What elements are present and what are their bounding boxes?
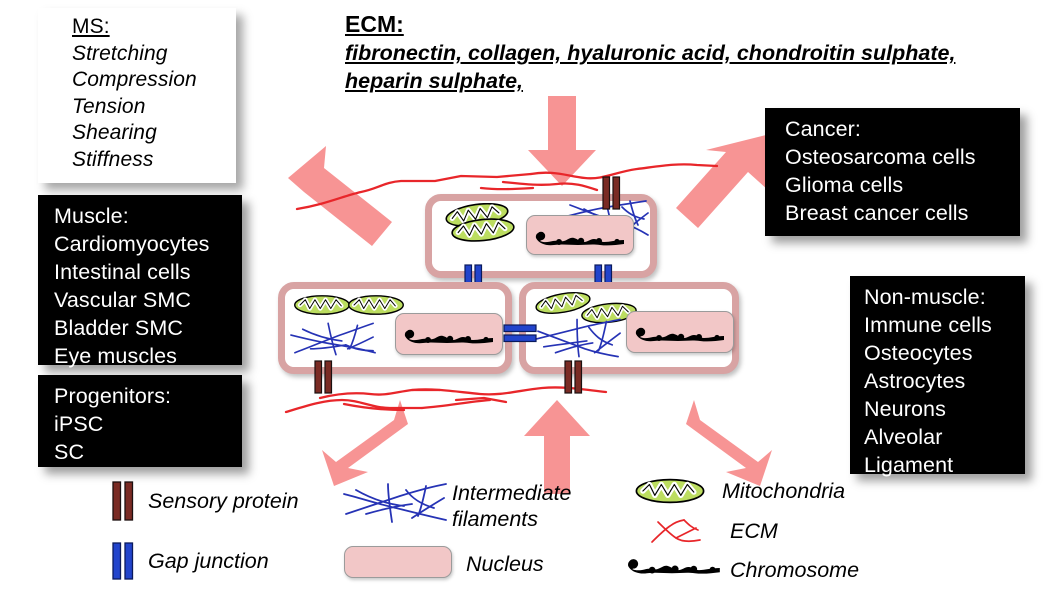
sensory-protein-icon bbox=[312, 360, 334, 394]
legend-gap-junction-label: Gap junction bbox=[148, 548, 269, 574]
muscle-box-header: Muscle: bbox=[54, 202, 230, 230]
nonmuscle-box-item: Neurons bbox=[864, 395, 1013, 423]
progenitors-box-header: Progenitors: bbox=[54, 382, 230, 410]
legend-nucleus-label: Nucleus bbox=[466, 551, 544, 577]
progenitors-box-item: iPSC bbox=[54, 410, 230, 438]
cancer-box-item: Osteosarcoma cells bbox=[785, 143, 1008, 171]
chromosome-icon bbox=[632, 325, 728, 345]
legend-chromosome-label: Chromosome bbox=[730, 557, 859, 583]
diagram-canvas: MS: Stretching Compression Tension Shear… bbox=[0, 0, 1048, 597]
legend-mitochondria-label: Mitochondria bbox=[722, 478, 845, 504]
ms-box-item: Stretching bbox=[72, 41, 226, 68]
intermediate-filaments-icon bbox=[289, 319, 379, 361]
ecm-header-line1: fibronectin, collagen, hyaluronic acid, … bbox=[345, 39, 1005, 67]
ms-box-item: Shearing bbox=[72, 120, 226, 147]
legend-nucleus-icon bbox=[344, 546, 452, 578]
ecm-header: ECM: fibronectin, collagen, hyaluronic a… bbox=[345, 10, 1005, 95]
legend-sensory-protein-icon bbox=[110, 481, 136, 521]
chromosome-icon bbox=[401, 327, 497, 347]
progenitors-box-item: SC bbox=[54, 438, 230, 466]
muscle-box-item: Cardiomyocytes bbox=[54, 230, 230, 258]
cell-top bbox=[425, 194, 657, 278]
nonmuscle-box-header: Non-muscle: bbox=[864, 283, 1013, 311]
nonmuscle-box-item: Ligament bbox=[864, 451, 1013, 479]
ms-box-item: Tension bbox=[72, 94, 226, 121]
mitochondria-icon bbox=[450, 218, 516, 242]
legend-intermediate-filaments-label: Intermediate filaments bbox=[452, 480, 572, 532]
cell-bottom-right bbox=[519, 282, 739, 374]
legend-mitochondria-icon bbox=[634, 478, 706, 504]
cancer-box-item: Breast cancer cells bbox=[785, 199, 1008, 227]
nonmuscle-box-item: Alveolar bbox=[864, 423, 1013, 451]
ecm-header-line2: heparin sulphate, bbox=[345, 67, 1005, 95]
legend-ecm-icon bbox=[648, 518, 708, 546]
muscle-box-item: Eye muscles bbox=[54, 342, 230, 370]
ms-box: MS: Stretching Compression Tension Shear… bbox=[38, 8, 236, 183]
mitochondria-icon bbox=[347, 293, 405, 317]
intermediate-filaments-icon bbox=[534, 317, 624, 363]
ecm-header-title: ECM: bbox=[345, 10, 1005, 39]
nonmuscle-box-item: Astrocytes bbox=[864, 367, 1013, 395]
nonmuscle-box: Non-muscle: Immune cells Osteocytes Astr… bbox=[850, 276, 1025, 474]
mitochondria-icon bbox=[293, 293, 351, 317]
cancer-box-header: Cancer: bbox=[785, 115, 1008, 143]
legend-sensory-protein-label: Sensory protein bbox=[148, 488, 299, 514]
chromosome-icon bbox=[532, 229, 628, 249]
ms-box-item: Stiffness bbox=[72, 147, 226, 174]
cancer-box-item: Glioma cells bbox=[785, 171, 1008, 199]
progenitors-box: Progenitors: iPSC SC bbox=[38, 375, 242, 467]
nonmuscle-box-item: Osteocytes bbox=[864, 339, 1013, 367]
gap-junction-icon bbox=[503, 322, 537, 344]
sensory-protein-icon bbox=[600, 176, 622, 210]
sensory-protein-icon bbox=[562, 360, 584, 394]
muscle-box-item: Vascular SMC bbox=[54, 286, 230, 314]
legend-gap-junction-icon bbox=[110, 542, 136, 580]
muscle-box: Muscle: Cardiomyocytes Intestinal cells … bbox=[38, 195, 242, 365]
nonmuscle-box-item: Immune cells bbox=[864, 311, 1013, 339]
ecm-fibres-bottom bbox=[280, 378, 710, 428]
legend-chromosome-icon bbox=[624, 556, 724, 578]
muscle-box-item: Bladder SMC bbox=[54, 314, 230, 342]
ms-box-header: MS: bbox=[72, 14, 226, 41]
legend-intermediate-filaments-icon bbox=[340, 480, 450, 525]
legend-ecm-label: ECM bbox=[730, 518, 778, 544]
cancer-box: Cancer: Osteosarcoma cells Glioma cells … bbox=[765, 108, 1020, 236]
muscle-box-item: Intestinal cells bbox=[54, 258, 230, 286]
ms-box-item: Compression bbox=[72, 67, 226, 94]
